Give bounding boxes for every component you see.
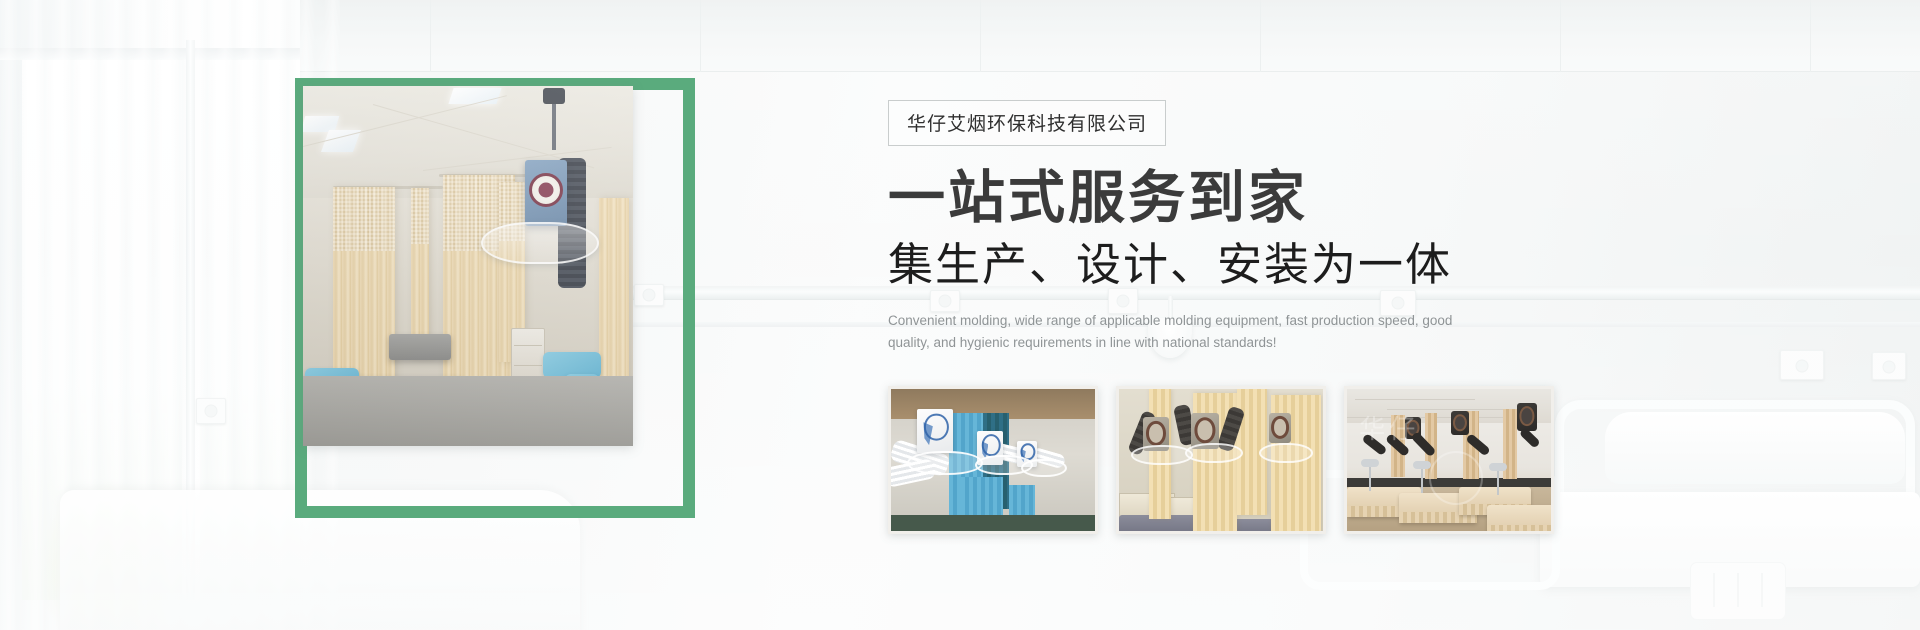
extractor-unit-icon [1269, 413, 1291, 443]
banner-description: Convenient molding, wide range of applic… [888, 310, 1468, 354]
hero-banner: 华仔艾烟环保科技有限公司 一站式服务到家 集生产、设计、安装为一体 Conven… [0, 0, 1920, 630]
extractor-unit-icon [917, 409, 953, 453]
banner-content: 华仔艾烟环保科技有限公司 一站式服务到家 集生产、设计、安装为一体 Conven… [888, 100, 1688, 353]
watermark-ring [1429, 451, 1483, 505]
banner-headline: 一站式服务到家 [888, 169, 1688, 228]
hero-photo [303, 86, 633, 446]
company-name-badge: 华仔艾烟环保科技有限公司 [888, 100, 1166, 146]
extractor-unit-icon [1451, 411, 1469, 435]
watermark: 华仔 [1359, 409, 1419, 446]
hero-photo-block [295, 78, 735, 558]
thumbnail-blue-curtain-room[interactable] [888, 386, 1098, 534]
thumbnail-strip: 华仔 [888, 386, 1554, 534]
clinic-room-scene [303, 86, 633, 446]
thumbnail-cream-curtain-room[interactable] [1116, 386, 1326, 534]
extractor-unit-icon [1517, 403, 1537, 431]
banner-subheadline: 集生产、设计、安装为一体 [888, 240, 1688, 290]
thumbnail-multi-bed-room[interactable]: 华仔 [1344, 386, 1554, 534]
